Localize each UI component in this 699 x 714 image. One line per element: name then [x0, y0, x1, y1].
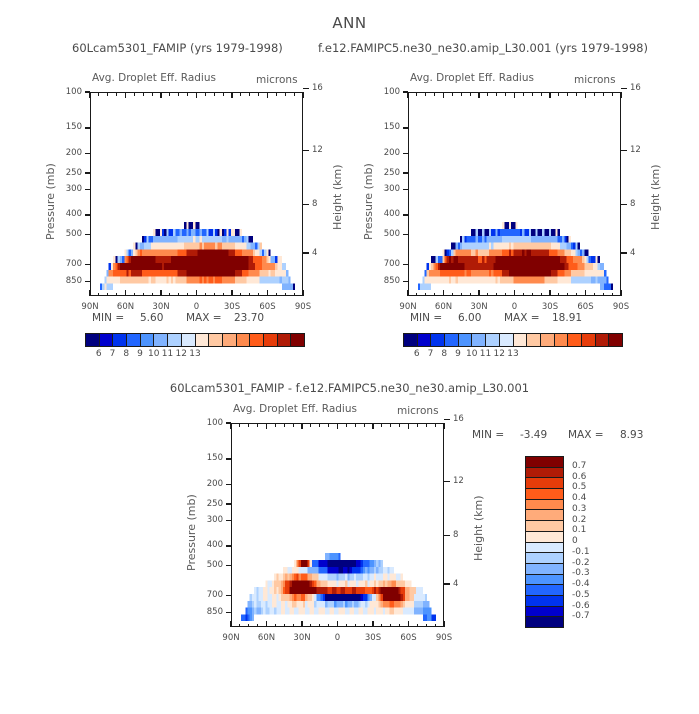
top-left-ylabel-height: Height (km) — [331, 164, 344, 230]
colorbar-label: 0 — [572, 536, 578, 546]
colorbar-cell[interactable] — [568, 334, 582, 346]
colorbar-label: 0.2 — [572, 515, 586, 525]
colorbar-cell[interactable] — [526, 564, 563, 575]
axis-tick-label: 700 — [0, 590, 223, 600]
axis-tick-label: 0 — [497, 302, 533, 312]
colorbar-cell[interactable] — [526, 543, 563, 554]
axis-tick-label: 16 — [312, 83, 323, 93]
bottom-max-label: MAX = — [568, 429, 604, 441]
colorbar-cell[interactable] — [526, 478, 563, 489]
colorbar-cell[interactable] — [555, 334, 569, 346]
top-right-units-label: microns — [574, 74, 616, 86]
top-right-max-label: MAX = — [504, 312, 540, 324]
axis-tick — [621, 252, 627, 253]
top-right-plot-frame[interactable] — [408, 92, 621, 296]
bottom-variable-label: Avg. Droplet Eff. Radius — [233, 403, 357, 415]
axis-tick-label: 300 — [0, 184, 82, 194]
axis-tick-label: 90N — [390, 302, 426, 312]
colorbar-label: 9 — [444, 349, 472, 359]
axis-tick-label: 150 — [0, 453, 223, 463]
axis-tick-label: 30S — [214, 302, 250, 312]
colorbar-cell[interactable] — [541, 334, 555, 346]
axis-tick-label: 60S — [568, 302, 604, 312]
colorbar-label: 0.1 — [572, 525, 586, 535]
axis-tick-label: 150 — [0, 122, 82, 132]
colorbar-cell[interactable] — [168, 334, 182, 346]
colorbar-label: 6 — [85, 349, 113, 359]
colorbar-cell[interactable] — [141, 334, 155, 346]
colorbar-cell[interactable] — [196, 334, 210, 346]
colorbar-label: -0.5 — [572, 590, 590, 600]
top-left-plot-frame[interactable] — [90, 92, 303, 296]
top-right-min-label: MIN = — [410, 312, 442, 324]
page-title: ANN — [0, 14, 699, 32]
colorbar-cell[interactable] — [526, 489, 563, 500]
colorbar-cell[interactable] — [291, 334, 304, 346]
colorbar-cell[interactable] — [113, 334, 127, 346]
top-right-ylabel-pressure: Pressure (mb) — [362, 163, 375, 240]
colorbar-cell[interactable] — [154, 334, 168, 346]
axis-tick-label: 8 — [312, 199, 317, 209]
top-right-variable-label: Avg. Droplet Eff. Radius — [410, 72, 534, 84]
colorbar-label: 8 — [112, 349, 140, 359]
colorbar-cell[interactable] — [609, 334, 622, 346]
axis-tick — [444, 583, 450, 584]
axis-tick-label: 16 — [453, 414, 464, 424]
top-left-case-title: 60Lcam5301_FAMIP (yrs 1979-1998) — [72, 41, 283, 55]
top-left-contour-field — [91, 93, 303, 296]
top-right-contour-field — [409, 93, 621, 296]
axis-tick-label: 4 — [453, 579, 458, 589]
colorbar-cell[interactable] — [459, 334, 473, 346]
colorbar-label: 10 — [140, 349, 168, 359]
top-left-variable-label: Avg. Droplet Eff. Radius — [92, 72, 216, 84]
colorbar-cell[interactable] — [100, 334, 114, 346]
colorbar-label: -0.6 — [572, 601, 590, 611]
colorbar-cell[interactable] — [264, 334, 278, 346]
axis-tick-label: 12 — [453, 476, 464, 486]
axis-tick-label: 60N — [249, 633, 285, 643]
colorbar-label: 0.5 — [572, 482, 586, 492]
top-left-max-value: 23.70 — [234, 312, 264, 324]
colorbar-cell[interactable] — [526, 510, 563, 521]
bottom-ylabel-pressure: Pressure (mb) — [185, 494, 198, 571]
colorbar-cell[interactable] — [445, 334, 459, 346]
colorbar-cell[interactable] — [250, 334, 264, 346]
axis-tick — [444, 419, 450, 420]
colorbar-cell[interactable] — [86, 334, 100, 346]
colorbar-label: 0.6 — [572, 472, 586, 482]
axis-tick-label: 30N — [284, 633, 320, 643]
axis-tick-label: 0 — [320, 633, 356, 643]
axis-tick-label: 250 — [0, 168, 82, 178]
colorbar-label: -0.4 — [572, 579, 590, 589]
axis-tick-label: 8 — [630, 199, 635, 209]
colorbar-label: 8 — [430, 349, 458, 359]
axis-tick-label: 100 — [0, 418, 223, 428]
colorbar-cell[interactable] — [596, 334, 610, 346]
axis-tick — [303, 88, 309, 89]
axis-tick-label: 500 — [0, 229, 82, 239]
axis-tick-label: 0 — [179, 302, 215, 312]
colorbar-label: 9 — [126, 349, 154, 359]
axis-tick — [621, 150, 627, 151]
axis-tick-label: 100 — [0, 87, 82, 97]
colorbar-cell[interactable] — [223, 334, 237, 346]
axis-tick-label: 30N — [143, 302, 179, 312]
colorbar-label: -0.7 — [572, 611, 590, 621]
colorbar-label: 6 — [403, 349, 431, 359]
colorbar-label: 12 — [485, 349, 513, 359]
axis-tick-label: 850 — [0, 276, 82, 286]
colorbar-cell[interactable] — [127, 334, 141, 346]
colorbar-cell[interactable] — [527, 334, 541, 346]
colorbar-label: 7 — [417, 349, 445, 359]
axis-tick-label: 16 — [630, 83, 641, 93]
axis-tick — [303, 204, 309, 205]
colorbar-label: 11 — [154, 349, 182, 359]
colorbar-cell[interactable] — [431, 334, 445, 346]
axis-tick — [621, 204, 627, 205]
axis-tick — [444, 535, 450, 536]
axis-tick-label: 4 — [630, 248, 635, 258]
bottom-max-value: 8.93 — [620, 429, 643, 441]
colorbar-label: -0.3 — [572, 568, 590, 578]
colorbar-cell[interactable] — [526, 617, 563, 627]
colorbar-label: 7 — [99, 349, 127, 359]
colorbar-cell[interactable] — [526, 585, 563, 596]
top-right-min-value: 6.00 — [458, 312, 481, 324]
axis-tick-label: 90N — [72, 302, 108, 312]
colorbar-cell[interactable] — [526, 532, 563, 543]
axis-tick-label: 30S — [355, 633, 391, 643]
axis-tick-label: 90N — [213, 633, 249, 643]
axis-tick-label: 60N — [426, 302, 462, 312]
top-right-case-title: f.e12.FAMIPC5.ne30_ne30.amip_L30.001 (yr… — [318, 41, 648, 55]
colorbar-label: 0.4 — [572, 493, 586, 503]
top-left-min-value: 5.60 — [140, 312, 163, 324]
colorbar-label: -0.1 — [572, 547, 590, 557]
colorbar-cell[interactable] — [404, 334, 418, 346]
axis-tick-label: 90S — [603, 302, 639, 312]
bottom-units-label: microns — [397, 405, 439, 417]
colorbar-label: 10 — [458, 349, 486, 359]
colorbar-cell[interactable] — [526, 575, 563, 586]
axis-tick-label: 90S — [426, 633, 462, 643]
axis-tick-label: 8 — [453, 530, 458, 540]
bottom-case-title: 60Lcam5301_FAMIP - f.e12.FAMIPC5.ne30_ne… — [0, 381, 699, 395]
colorbar-cell[interactable] — [182, 334, 196, 346]
axis-tick-label: 12 — [312, 145, 323, 155]
axis-tick — [444, 481, 450, 482]
axis-tick-label: 90S — [285, 302, 321, 312]
colorbar-label: 13 — [499, 349, 527, 359]
bottom-contour-field — [232, 424, 444, 627]
axis-tick — [303, 252, 309, 253]
colorbar-cell[interactable] — [582, 334, 596, 346]
axis-tick — [303, 150, 309, 151]
axis-tick-label: 60N — [108, 302, 144, 312]
colorbar-cell[interactable] — [526, 500, 563, 511]
axis-tick-label: 700 — [0, 259, 82, 269]
colorbar-label: 13 — [181, 349, 209, 359]
colorbar-cell[interactable] — [209, 334, 223, 346]
axis-tick-label: 200 — [0, 148, 82, 158]
axis-tick-label: 200 — [0, 479, 223, 489]
colorbar-cell[interactable] — [526, 596, 563, 607]
axis-tick-label: 60S — [250, 302, 286, 312]
colorbar-cell[interactable] — [237, 334, 251, 346]
colorbar-label: 0.7 — [572, 461, 586, 471]
axis-tick-label: 850 — [0, 607, 223, 617]
colorbar-cell[interactable] — [526, 468, 563, 479]
colorbar-cell[interactable] — [486, 334, 500, 346]
top-right-max-value: 18.91 — [552, 312, 582, 324]
axis-tick-label: 60S — [391, 633, 427, 643]
colorbar-label: 12 — [167, 349, 195, 359]
axis-tick-label: 400 — [0, 209, 82, 219]
colorbar-label: 0.3 — [572, 504, 586, 514]
colorbar-cell[interactable] — [500, 334, 514, 346]
colorbar-cell[interactable] — [526, 457, 563, 468]
top-left-ylabel-pressure: Pressure (mb) — [44, 163, 57, 240]
axis-tick-label: 30N — [461, 302, 497, 312]
axis-tick-label: 4 — [312, 248, 317, 258]
bottom-plot-frame[interactable] — [231, 423, 444, 627]
top-left-colorbar[interactable] — [85, 333, 305, 347]
colorbar-cell[interactable] — [278, 334, 292, 346]
colorbar-cell[interactable] — [526, 521, 563, 532]
axis-tick — [621, 88, 627, 89]
colorbar-cell[interactable] — [418, 334, 432, 346]
colorbar-cell[interactable] — [514, 334, 528, 346]
colorbar-label: 11 — [472, 349, 500, 359]
colorbar-label: -0.2 — [572, 558, 590, 568]
axis-tick-label: 12 — [630, 145, 641, 155]
colorbar-cell[interactable] — [472, 334, 486, 346]
top-left-max-label: MAX = — [186, 312, 222, 324]
colorbar-cell[interactable] — [526, 553, 563, 564]
bottom-colorbar[interactable] — [525, 456, 564, 628]
bottom-ylabel-height: Height (km) — [472, 495, 485, 561]
top-left-units-label: microns — [256, 74, 298, 86]
top-right-colorbar[interactable] — [403, 333, 623, 347]
top-left-min-label: MIN = — [92, 312, 124, 324]
axis-tick-label: 30S — [532, 302, 568, 312]
colorbar-cell[interactable] — [526, 607, 563, 618]
bottom-min-value: -3.49 — [520, 429, 547, 441]
bottom-min-label: MIN = — [472, 429, 504, 441]
top-right-ylabel-height: Height (km) — [649, 164, 662, 230]
